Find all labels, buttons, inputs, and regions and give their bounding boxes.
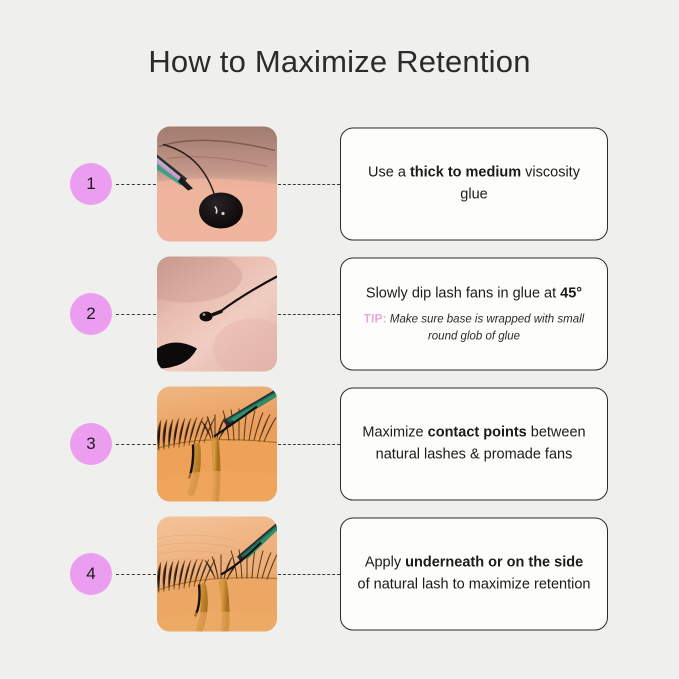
- step-image-3: [157, 386, 277, 501]
- connector-left-2: [116, 314, 156, 315]
- infographic-page: How to Maximize Retention 1: [0, 0, 679, 679]
- page-title: How to Maximize Retention: [0, 44, 679, 80]
- step-row-1: 1: [0, 126, 679, 241]
- step-number-badge-1: 1: [70, 163, 112, 205]
- connector-right-3: [278, 444, 340, 445]
- step-image-4: [157, 516, 277, 631]
- step-row-3: 3: [0, 386, 679, 501]
- step-card-1: Use a thick to medium viscosity glue: [340, 127, 608, 240]
- step-number-badge-3: 3: [70, 423, 112, 465]
- step-number-label-1: 1: [86, 174, 95, 194]
- connector-right-4: [278, 574, 340, 575]
- step-card-2: Slowly dip lash fans in glue at 45° TIP:…: [340, 257, 608, 370]
- step-text-2: Slowly dip lash fans in glue at 45°: [366, 282, 582, 304]
- step-number-badge-2: 2: [70, 293, 112, 335]
- step-text-1: Use a thick to medium viscosity glue: [357, 161, 591, 206]
- step-image-1: [157, 126, 277, 241]
- connector-right-2: [278, 314, 340, 315]
- step-image-2: [157, 256, 277, 371]
- tip-label: TIP:: [364, 314, 387, 326]
- connector-left-4: [116, 574, 156, 575]
- step-text-3: Maximize contact points between natural …: [357, 421, 591, 466]
- step-row-4: 4: [0, 516, 679, 631]
- connector-left-3: [116, 444, 156, 445]
- step-card-3: Maximize contact points between natural …: [340, 387, 608, 500]
- step-card-4: Apply underneath or on the side of natur…: [340, 517, 608, 630]
- step-number-label-3: 3: [86, 434, 95, 454]
- tip-text: Make sure base is wrapped with small rou…: [390, 314, 584, 343]
- step-number-badge-4: 4: [70, 553, 112, 595]
- step-number-label-2: 2: [86, 304, 95, 324]
- step-text-4: Apply underneath or on the side of natur…: [357, 551, 591, 596]
- step-row-2: 2: [0, 256, 679, 371]
- connector-right-1: [278, 184, 340, 185]
- step-tip-2: TIP: Make sure base is wrapped with smal…: [357, 312, 591, 345]
- step-number-label-4: 4: [86, 564, 95, 584]
- steps-list: 1: [0, 126, 679, 631]
- connector-left-1: [116, 184, 156, 185]
